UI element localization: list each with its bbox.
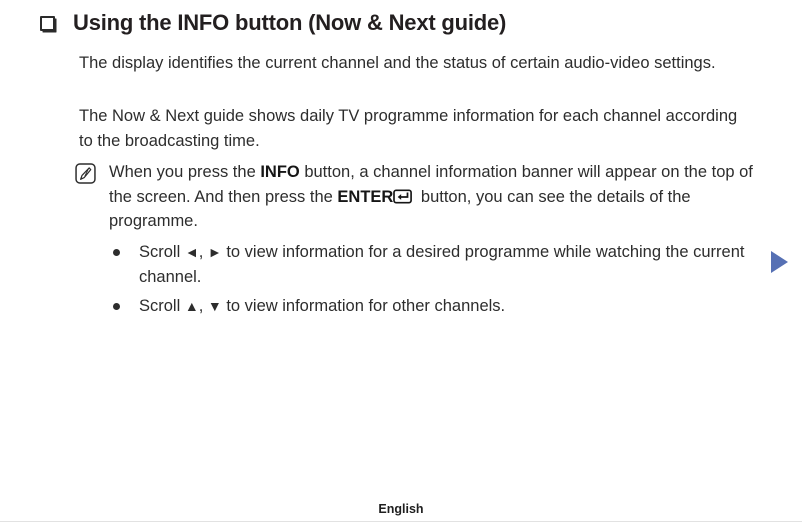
enter-key-icon <box>393 187 415 202</box>
footer-divider <box>0 521 802 522</box>
list-item: Scroll ▲, ▼ to view information for othe… <box>113 294 763 319</box>
next-page-arrow-icon[interactable] <box>771 251 788 273</box>
hollow-square-bullet-icon <box>40 16 55 31</box>
bullet-1-suffix: to view information for a desired progra… <box>139 243 744 286</box>
bullet-text-1: Scroll ◄, ► to view information for a de… <box>139 240 749 290</box>
arrow-right-icon: ► <box>208 244 222 260</box>
round-dot-bullet-icon <box>113 303 120 310</box>
manual-page: Using the INFO button (Now & Next guide)… <box>0 0 802 525</box>
note-text: When you press the INFO button, a channe… <box>109 160 754 234</box>
bullet-2-prefix: Scroll <box>139 297 185 315</box>
arrow-down-icon: ▼ <box>208 298 222 314</box>
bullet-text-2: Scroll ▲, ▼ to view information for othe… <box>139 294 749 319</box>
body-paragraph-2: The Now & Next guide shows daily TV prog… <box>79 104 751 154</box>
page-heading: Using the INFO button (Now & Next guide) <box>40 8 762 38</box>
bullet-1-prefix: Scroll <box>139 243 185 261</box>
bullet-2-suffix: to view information for other channels. <box>222 297 505 315</box>
arrow-left-icon: ◄ <box>185 244 199 260</box>
note-keyword-info: INFO <box>260 163 299 181</box>
footer-language-label: English <box>0 502 802 516</box>
body-paragraph-1: The display identifies the current chann… <box>79 51 751 76</box>
arrow-up-icon: ▲ <box>185 298 199 314</box>
note-block: When you press the INFO button, a channe… <box>75 160 765 234</box>
bullet-1-separator: , <box>199 243 208 261</box>
note-pencil-icon <box>75 163 96 184</box>
note-text-part1: When you press the <box>109 163 260 181</box>
note-keyword-enter: ENTER <box>337 188 393 206</box>
round-dot-bullet-icon <box>113 249 120 256</box>
bullet-2-separator: , <box>199 297 208 315</box>
list-item: Scroll ◄, ► to view information for a de… <box>113 240 763 290</box>
page-title: Using the INFO button (Now & Next guide) <box>73 8 506 38</box>
bullet-list: Scroll ◄, ► to view information for a de… <box>113 240 763 323</box>
